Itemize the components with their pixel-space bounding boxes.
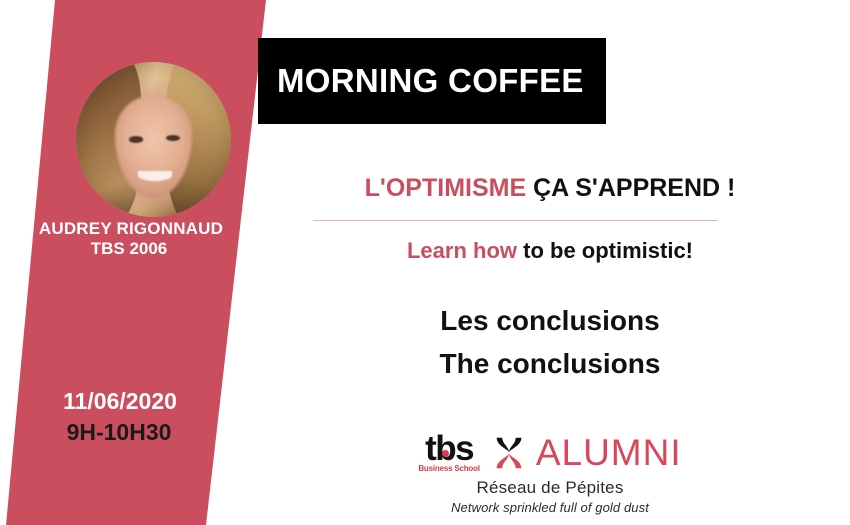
logo-tagline-en: Network sprinkled full of gold dust <box>260 500 840 515</box>
conclusions-fr: Les conclusions <box>260 305 840 337</box>
subline-plain-text: to be optimistic! <box>523 238 693 263</box>
tbs-wordmark-text: tbs <box>425 429 473 468</box>
conclusions-en: The conclusions <box>260 348 840 380</box>
alumni-wordmark: ALUMNI <box>536 434 682 472</box>
tbs-dot-icon <box>442 450 449 457</box>
portrait-vignette <box>76 62 231 217</box>
speaker-class: TBS 2006 <box>0 239 258 259</box>
headline-plain-text: ÇA S'APPREND ! <box>533 174 735 202</box>
presentation-slide: AUDREY RIGONNAUD TBS 2006 11/06/2020 9H-… <box>0 0 850 525</box>
tbs-wordmark: tbs <box>425 434 473 464</box>
logo-tagline-fr: Réseau de Pépites <box>260 478 840 498</box>
speaker-name: AUDREY RIGONNAUD <box>0 219 262 239</box>
tbs-logo: tbs Business School <box>418 434 479 473</box>
bowtie-icon <box>490 434 528 472</box>
event-date: 11/06/2020 <box>0 388 240 415</box>
logo-row: tbs Business School ALUMNI <box>260 430 840 476</box>
headline-en: Learn how to be optimistic! <box>260 238 840 264</box>
logo-block: tbs Business School ALUMNI Réseau de Pép… <box>260 430 840 515</box>
subline-accent-text: Learn how <box>407 238 517 263</box>
event-time: 9H-10H30 <box>0 419 238 446</box>
headline-accent-text: L'OPTIMISME <box>365 174 527 202</box>
banner-title: MORNING COFFEE <box>277 62 584 100</box>
headline-divider <box>313 220 718 221</box>
title-banner: MORNING COFFEE <box>258 38 606 124</box>
avatar <box>76 62 231 217</box>
headline-fr: L'OPTIMISME ÇA S'APPREND ! <box>260 174 840 203</box>
